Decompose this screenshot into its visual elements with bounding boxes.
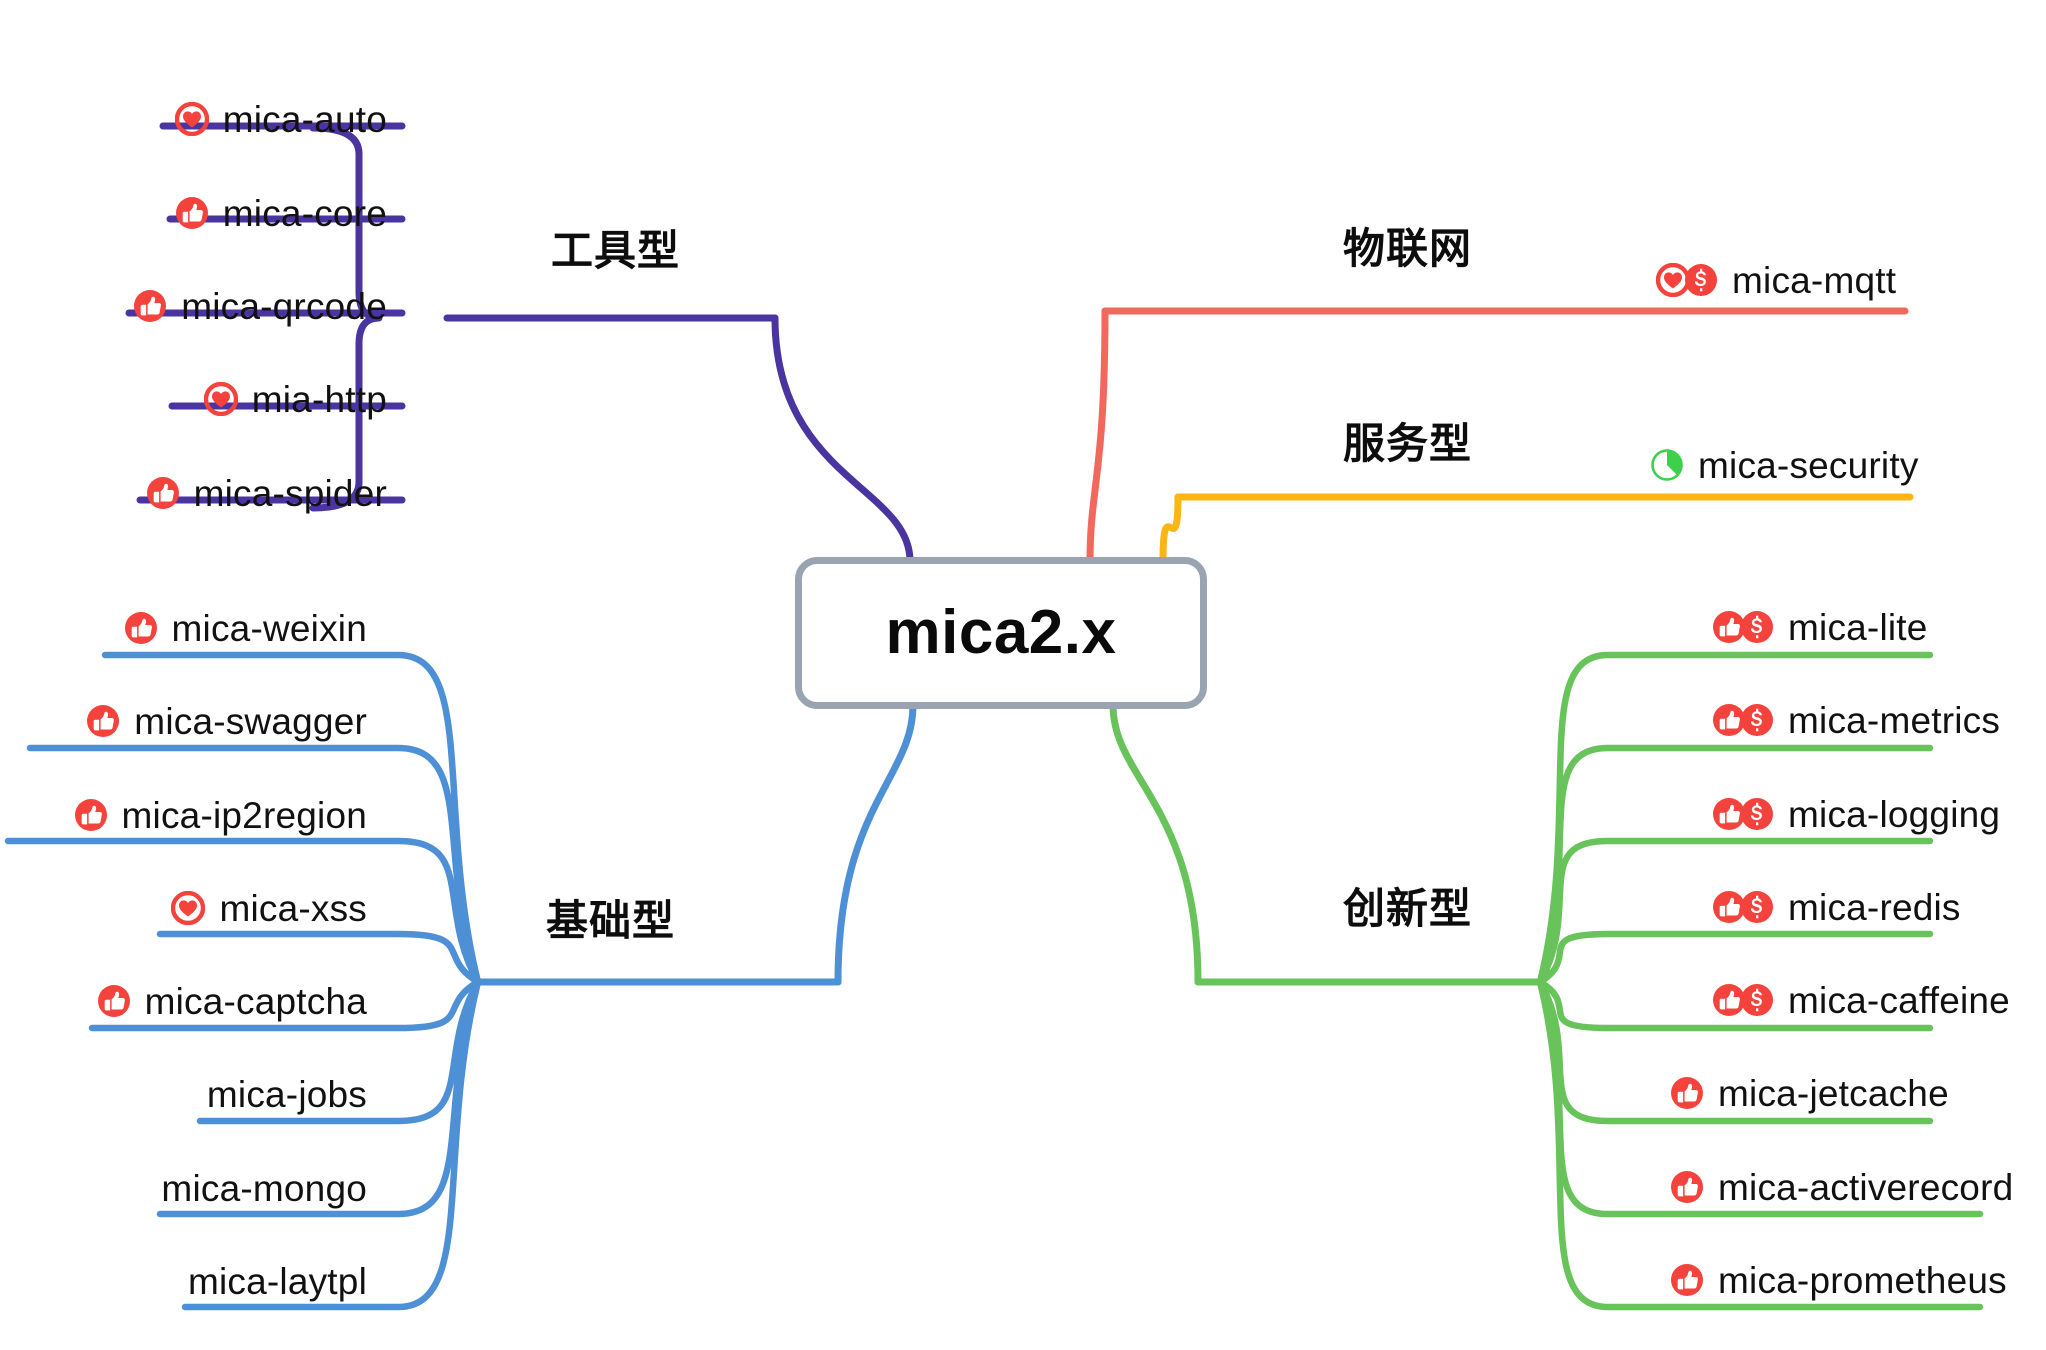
- leaf-badges: [1670, 1076, 1704, 1110]
- dollar-badge-icon: [1740, 983, 1774, 1017]
- leaf-node-label: mica-captcha: [145, 983, 367, 1020]
- leaf-badges: [97, 984, 131, 1018]
- heart-badge-icon: [171, 891, 205, 925]
- branch-title-iot[interactable]: 物联网: [1343, 228, 1472, 270]
- leaf-badges: [1712, 797, 1774, 831]
- thumbs-up-badge-icon: [175, 196, 209, 230]
- leaf-node-mica-swagger[interactable]: mica-swagger: [86, 693, 367, 749]
- leaf-node-label: mica-qrcode: [181, 288, 387, 325]
- heart-badge-icon: [175, 102, 209, 136]
- leaf-node-label: mica-security: [1698, 447, 1919, 484]
- leaf-node-label: mica-logging: [1788, 796, 2000, 833]
- leaf-node-mica-lite[interactable]: mica-lite: [1712, 599, 1928, 655]
- leaf-badges: [1670, 1170, 1704, 1204]
- leaf-node-mica-ip2region[interactable]: mica-ip2region: [74, 787, 367, 843]
- thumbs-up-badge-icon: [1670, 1170, 1704, 1204]
- leaf-node-label: mica-caffeine: [1788, 982, 2010, 1019]
- pie-progress-icon: [1650, 448, 1684, 482]
- root-node-label: mica2.x: [885, 602, 1116, 664]
- leaf-badges: [1712, 703, 1774, 737]
- leaf-node-label: mica-metrics: [1788, 702, 2000, 739]
- leaf-node-mica-core[interactable]: mica-core: [175, 185, 387, 241]
- branch-title-tool[interactable]: 工具型: [551, 230, 680, 272]
- leaf-badges: [74, 798, 108, 832]
- leaf-node-label: mica-ip2region: [122, 797, 367, 834]
- leaf-node-mica-jobs[interactable]: mica-jobs: [193, 1066, 367, 1122]
- leaf-node-mica-activerecord[interactable]: mica-activerecord: [1670, 1159, 2013, 1215]
- leaf-node-label: mia-http: [252, 381, 387, 418]
- leaf-node-mica-mqtt[interactable]: mica-mqtt: [1656, 252, 1896, 308]
- leaf-node-mica-xss[interactable]: mica-xss: [171, 880, 367, 936]
- leaf-badges: [1656, 263, 1718, 297]
- leaf-badges: [175, 196, 209, 230]
- leaf-badges: [1712, 610, 1774, 644]
- leaf-node-label: mica-mqtt: [1732, 262, 1896, 299]
- leaf-node-mica-weixin[interactable]: mica-weixin: [124, 600, 367, 656]
- leaf-badges: [175, 102, 209, 136]
- leaf-badges: [146, 476, 180, 510]
- leaf-node-label: mica-weixin: [172, 610, 367, 647]
- dollar-badge-icon: [1740, 610, 1774, 644]
- leaf-badges: [124, 611, 158, 645]
- leaf-node-mica-auto[interactable]: mica-auto: [175, 91, 387, 147]
- branch-title-innovation[interactable]: 创新型: [1343, 888, 1472, 930]
- leaf-node-mica-spider[interactable]: mica-spider: [146, 465, 387, 521]
- leaf-badges: [204, 382, 238, 416]
- leaf-node-label: mica-xss: [219, 890, 367, 927]
- heart-badge-icon: [204, 382, 238, 416]
- leaf-node-label: mica-laytpl: [188, 1263, 367, 1300]
- leaf-node-mia-http[interactable]: mia-http: [204, 371, 387, 427]
- leaf-node-label: mica-core: [223, 195, 387, 232]
- thumbs-up-badge-icon: [124, 611, 158, 645]
- leaf-node-mica-caffeine[interactable]: mica-caffeine: [1712, 972, 2010, 1028]
- thumbs-up-badge-icon: [133, 289, 167, 323]
- leaf-node-mica-laytpl[interactable]: mica-laytpl: [174, 1253, 367, 1309]
- leaf-badges: [1712, 983, 1774, 1017]
- leaf-node-label: mica-jobs: [207, 1076, 367, 1113]
- leaf-node-label: mica-spider: [194, 475, 387, 512]
- thumbs-up-badge-icon: [146, 476, 180, 510]
- root-node[interactable]: mica2.x: [795, 557, 1207, 709]
- leaf-node-mica-jetcache[interactable]: mica-jetcache: [1670, 1065, 1949, 1121]
- leaf-node-label: mica-prometheus: [1718, 1262, 2007, 1299]
- leaf-node-mica-security[interactable]: mica-security: [1650, 437, 1919, 493]
- leaf-badges: [1650, 448, 1684, 482]
- dollar-badge-icon: [1740, 890, 1774, 924]
- leaf-node-label: mica-redis: [1788, 889, 1961, 926]
- branch-title-service[interactable]: 服务型: [1343, 423, 1472, 465]
- mindmap-canvas: mica2.x 工具型mica-automica-coremica-qrcode…: [0, 0, 2046, 1350]
- thumbs-up-badge-icon: [1670, 1263, 1704, 1297]
- leaf-node-mica-logging[interactable]: mica-logging: [1712, 786, 2000, 842]
- leaf-badges: [133, 289, 167, 323]
- leaf-node-mica-qrcode[interactable]: mica-qrcode: [133, 278, 387, 334]
- leaf-node-mica-redis[interactable]: mica-redis: [1712, 879, 1961, 935]
- leaf-node-label: mica-swagger: [134, 703, 367, 740]
- thumbs-up-badge-icon: [1670, 1076, 1704, 1110]
- leaf-node-mica-prometheus[interactable]: mica-prometheus: [1670, 1252, 2007, 1308]
- thumbs-up-badge-icon: [97, 984, 131, 1018]
- leaf-node-mica-metrics[interactable]: mica-metrics: [1712, 692, 2000, 748]
- dollar-badge-icon: [1684, 263, 1718, 297]
- leaf-node-label: mica-auto: [223, 101, 387, 138]
- leaf-node-label: mica-jetcache: [1718, 1075, 1949, 1112]
- dollar-badge-icon: [1740, 703, 1774, 737]
- leaf-node-label: mica-activerecord: [1718, 1169, 2013, 1206]
- branch-title-basic[interactable]: 基础型: [546, 900, 675, 942]
- leaf-node-label: mica-mongo: [161, 1170, 367, 1207]
- leaf-badges: [86, 704, 120, 738]
- leaf-badges: [171, 891, 205, 925]
- dollar-badge-icon: [1740, 797, 1774, 831]
- leaf-node-label: mica-lite: [1788, 609, 1928, 646]
- leaf-node-mica-mongo[interactable]: mica-mongo: [147, 1160, 367, 1216]
- thumbs-up-badge-icon: [86, 704, 120, 738]
- thumbs-up-badge-icon: [74, 798, 108, 832]
- leaf-badges: [1712, 890, 1774, 924]
- leaf-badges: [1670, 1263, 1704, 1297]
- leaf-node-mica-captcha[interactable]: mica-captcha: [97, 973, 367, 1029]
